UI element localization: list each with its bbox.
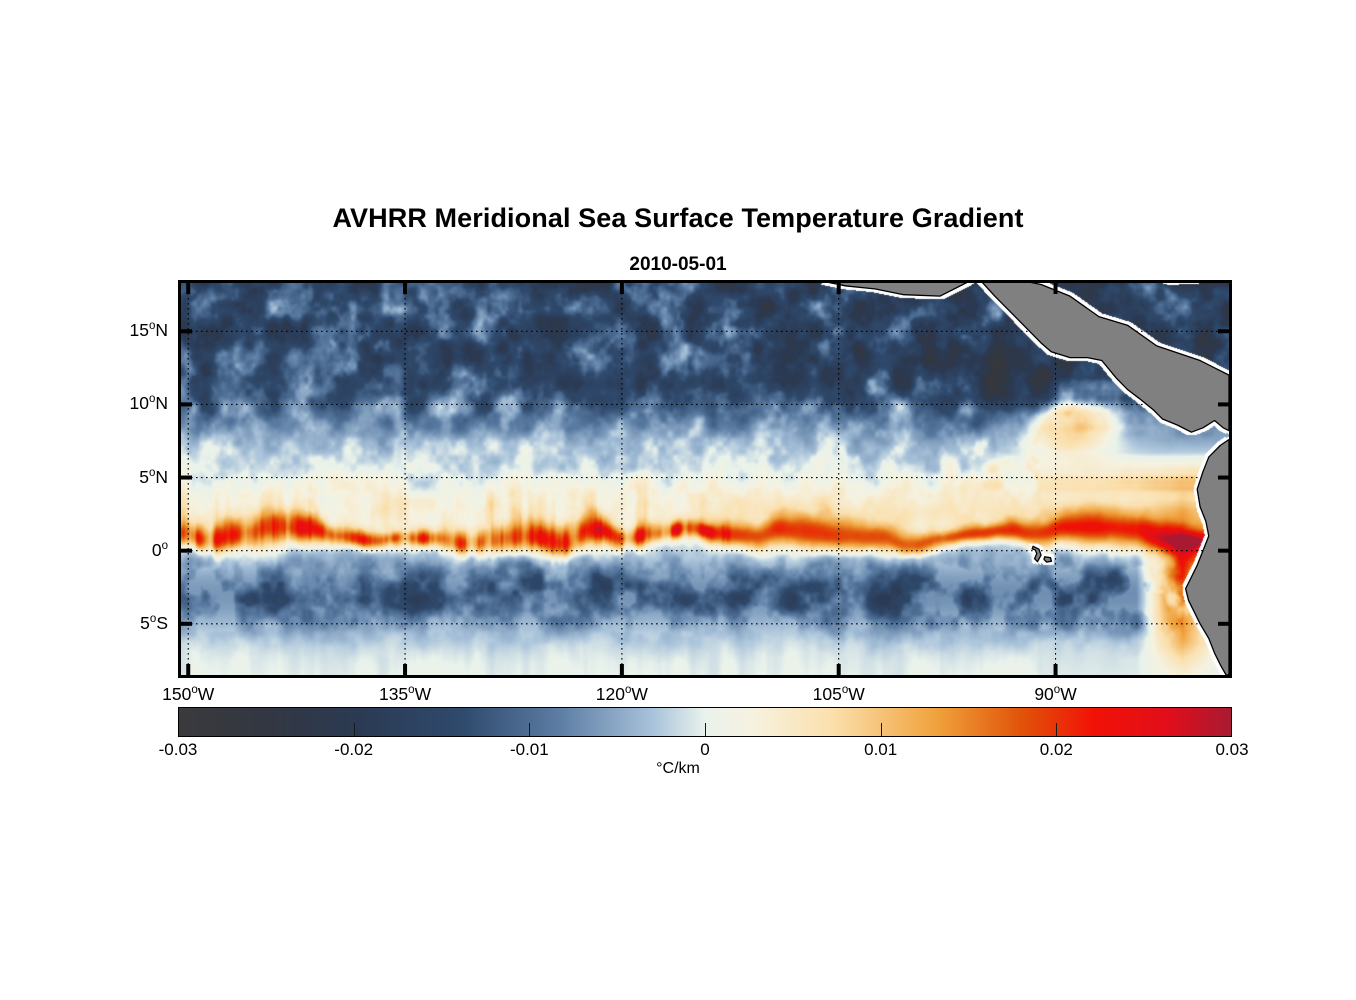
colorbar-tick-label-6: 0.03	[1172, 740, 1292, 760]
y-axis-tick-label-1: 10oN	[70, 393, 168, 414]
colorbar-unit-label: °C/km	[0, 760, 1356, 778]
figure-subtitle: 2010-05-01	[0, 254, 1356, 276]
colorbar-tick-3	[705, 723, 706, 736]
land-polygon-central-america	[977, 283, 1229, 432]
colorbar-tick-5	[1056, 723, 1057, 736]
colorbar-tick-label-4: 0.01	[821, 740, 941, 760]
land-masses	[824, 283, 1229, 675]
colorbar-tick-1	[354, 723, 355, 736]
y-axis-tick-label-3: 0o	[70, 540, 168, 561]
colorbar-tick-4	[881, 723, 882, 736]
page-title: AVHRR Meridional Sea Surface Temperature…	[0, 203, 1356, 234]
y-axis-tick-label-4: 5oS	[70, 613, 168, 634]
x-axis-tick-label-3: 105oW	[797, 684, 881, 705]
land-polygon-south-america	[1186, 440, 1229, 675]
x-axis-tick-label-2: 120oW	[580, 684, 664, 705]
map-overlay-layer	[181, 283, 1229, 675]
y-axis-tick-label-0: 15oN	[70, 320, 168, 341]
colorbar	[178, 707, 1232, 737]
land-polygon-galapagos-santacruz	[1044, 557, 1052, 562]
colorbar-tick-label-5: 0.02	[996, 740, 1116, 760]
colorbar-tick-label-3: 0	[645, 740, 765, 760]
y-axis-tick-label-2: 5oN	[70, 467, 168, 488]
colorbar-tick-2	[529, 723, 530, 736]
colorbar-tick-label-1: -0.02	[294, 740, 414, 760]
x-axis-tick-label-0: 150oW	[146, 684, 230, 705]
x-axis-tick-label-4: 90oW	[1014, 684, 1098, 705]
x-axis-tick-label-1: 135oW	[363, 684, 447, 705]
colorbar-tick-label-0: -0.03	[118, 740, 238, 760]
figure-root: AVHRR Meridional Sea Surface Temperature…	[0, 0, 1356, 1000]
land-polygon-galapagos-isabela	[1032, 546, 1041, 561]
colorbar-tick-label-2: -0.01	[469, 740, 589, 760]
map-plot-area	[178, 280, 1232, 678]
